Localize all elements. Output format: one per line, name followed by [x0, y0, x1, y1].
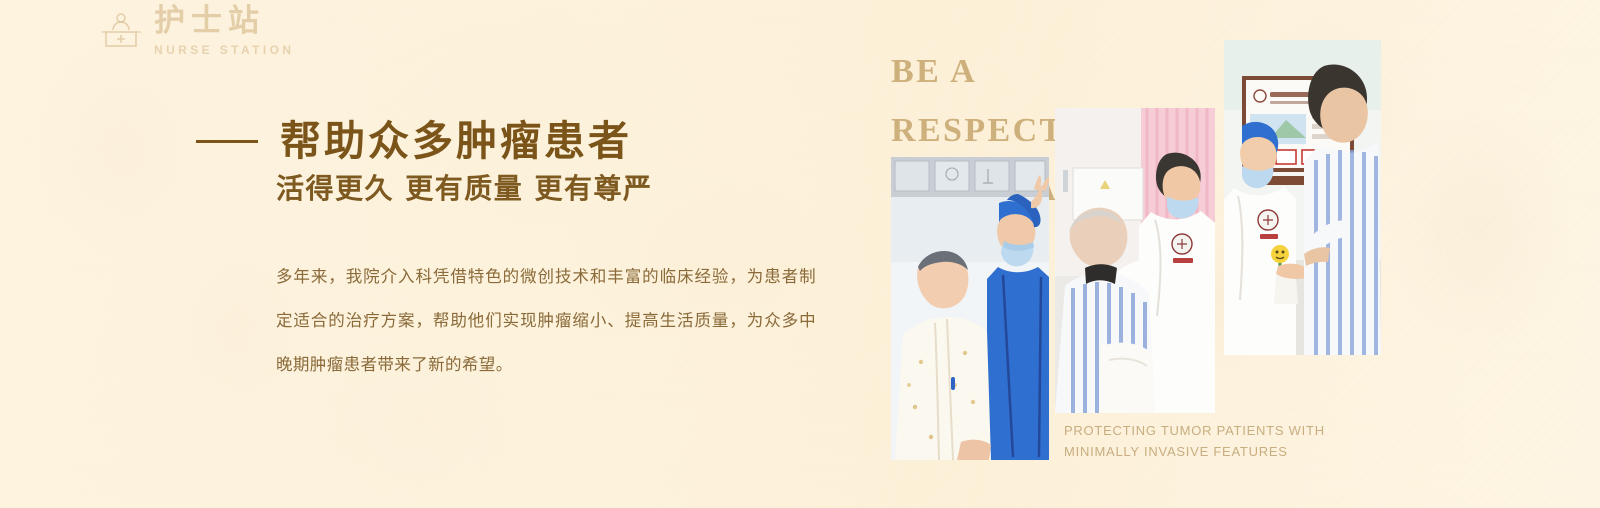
- nurse-station-sign-icon: [98, 8, 144, 54]
- photo-1-illustration: [891, 157, 1049, 460]
- body-paragraph: 多年来，我院介入科凭借特色的微创技术和丰富的临床经验，为患者制定适合的治疗方案，…: [276, 255, 816, 387]
- photo-nurse-greeting-patient: [1224, 40, 1381, 355]
- watermark-title-cn: 护士站: [154, 6, 294, 37]
- hospital-hero-banner: 护士站 NURSE STATION 帮助众多肿瘤患者 活得更久 更有质量 更有尊…: [0, 0, 1600, 508]
- photo-nurse-with-young-patient: [891, 157, 1049, 460]
- page-title: 帮助众多肿瘤患者: [280, 121, 632, 162]
- watermark-title-en: NURSE STATION: [154, 44, 294, 56]
- photo-2-illustration: [1055, 108, 1215, 413]
- nurse-station-watermark-text: 护士站 NURSE STATION: [154, 6, 294, 56]
- headline-rule: [196, 140, 258, 143]
- page-subtitle: 活得更久 更有质量 更有尊严: [276, 175, 653, 203]
- nurse-station-watermark: 护士站 NURSE STATION: [98, 6, 294, 56]
- photo-nurse-assisting-elderly-patient: [1055, 108, 1215, 413]
- photo-caption: PROTECTING TUMOR PATIENTS WITH MINIMALLY…: [1064, 420, 1394, 462]
- photo-3-illustration: [1224, 40, 1381, 355]
